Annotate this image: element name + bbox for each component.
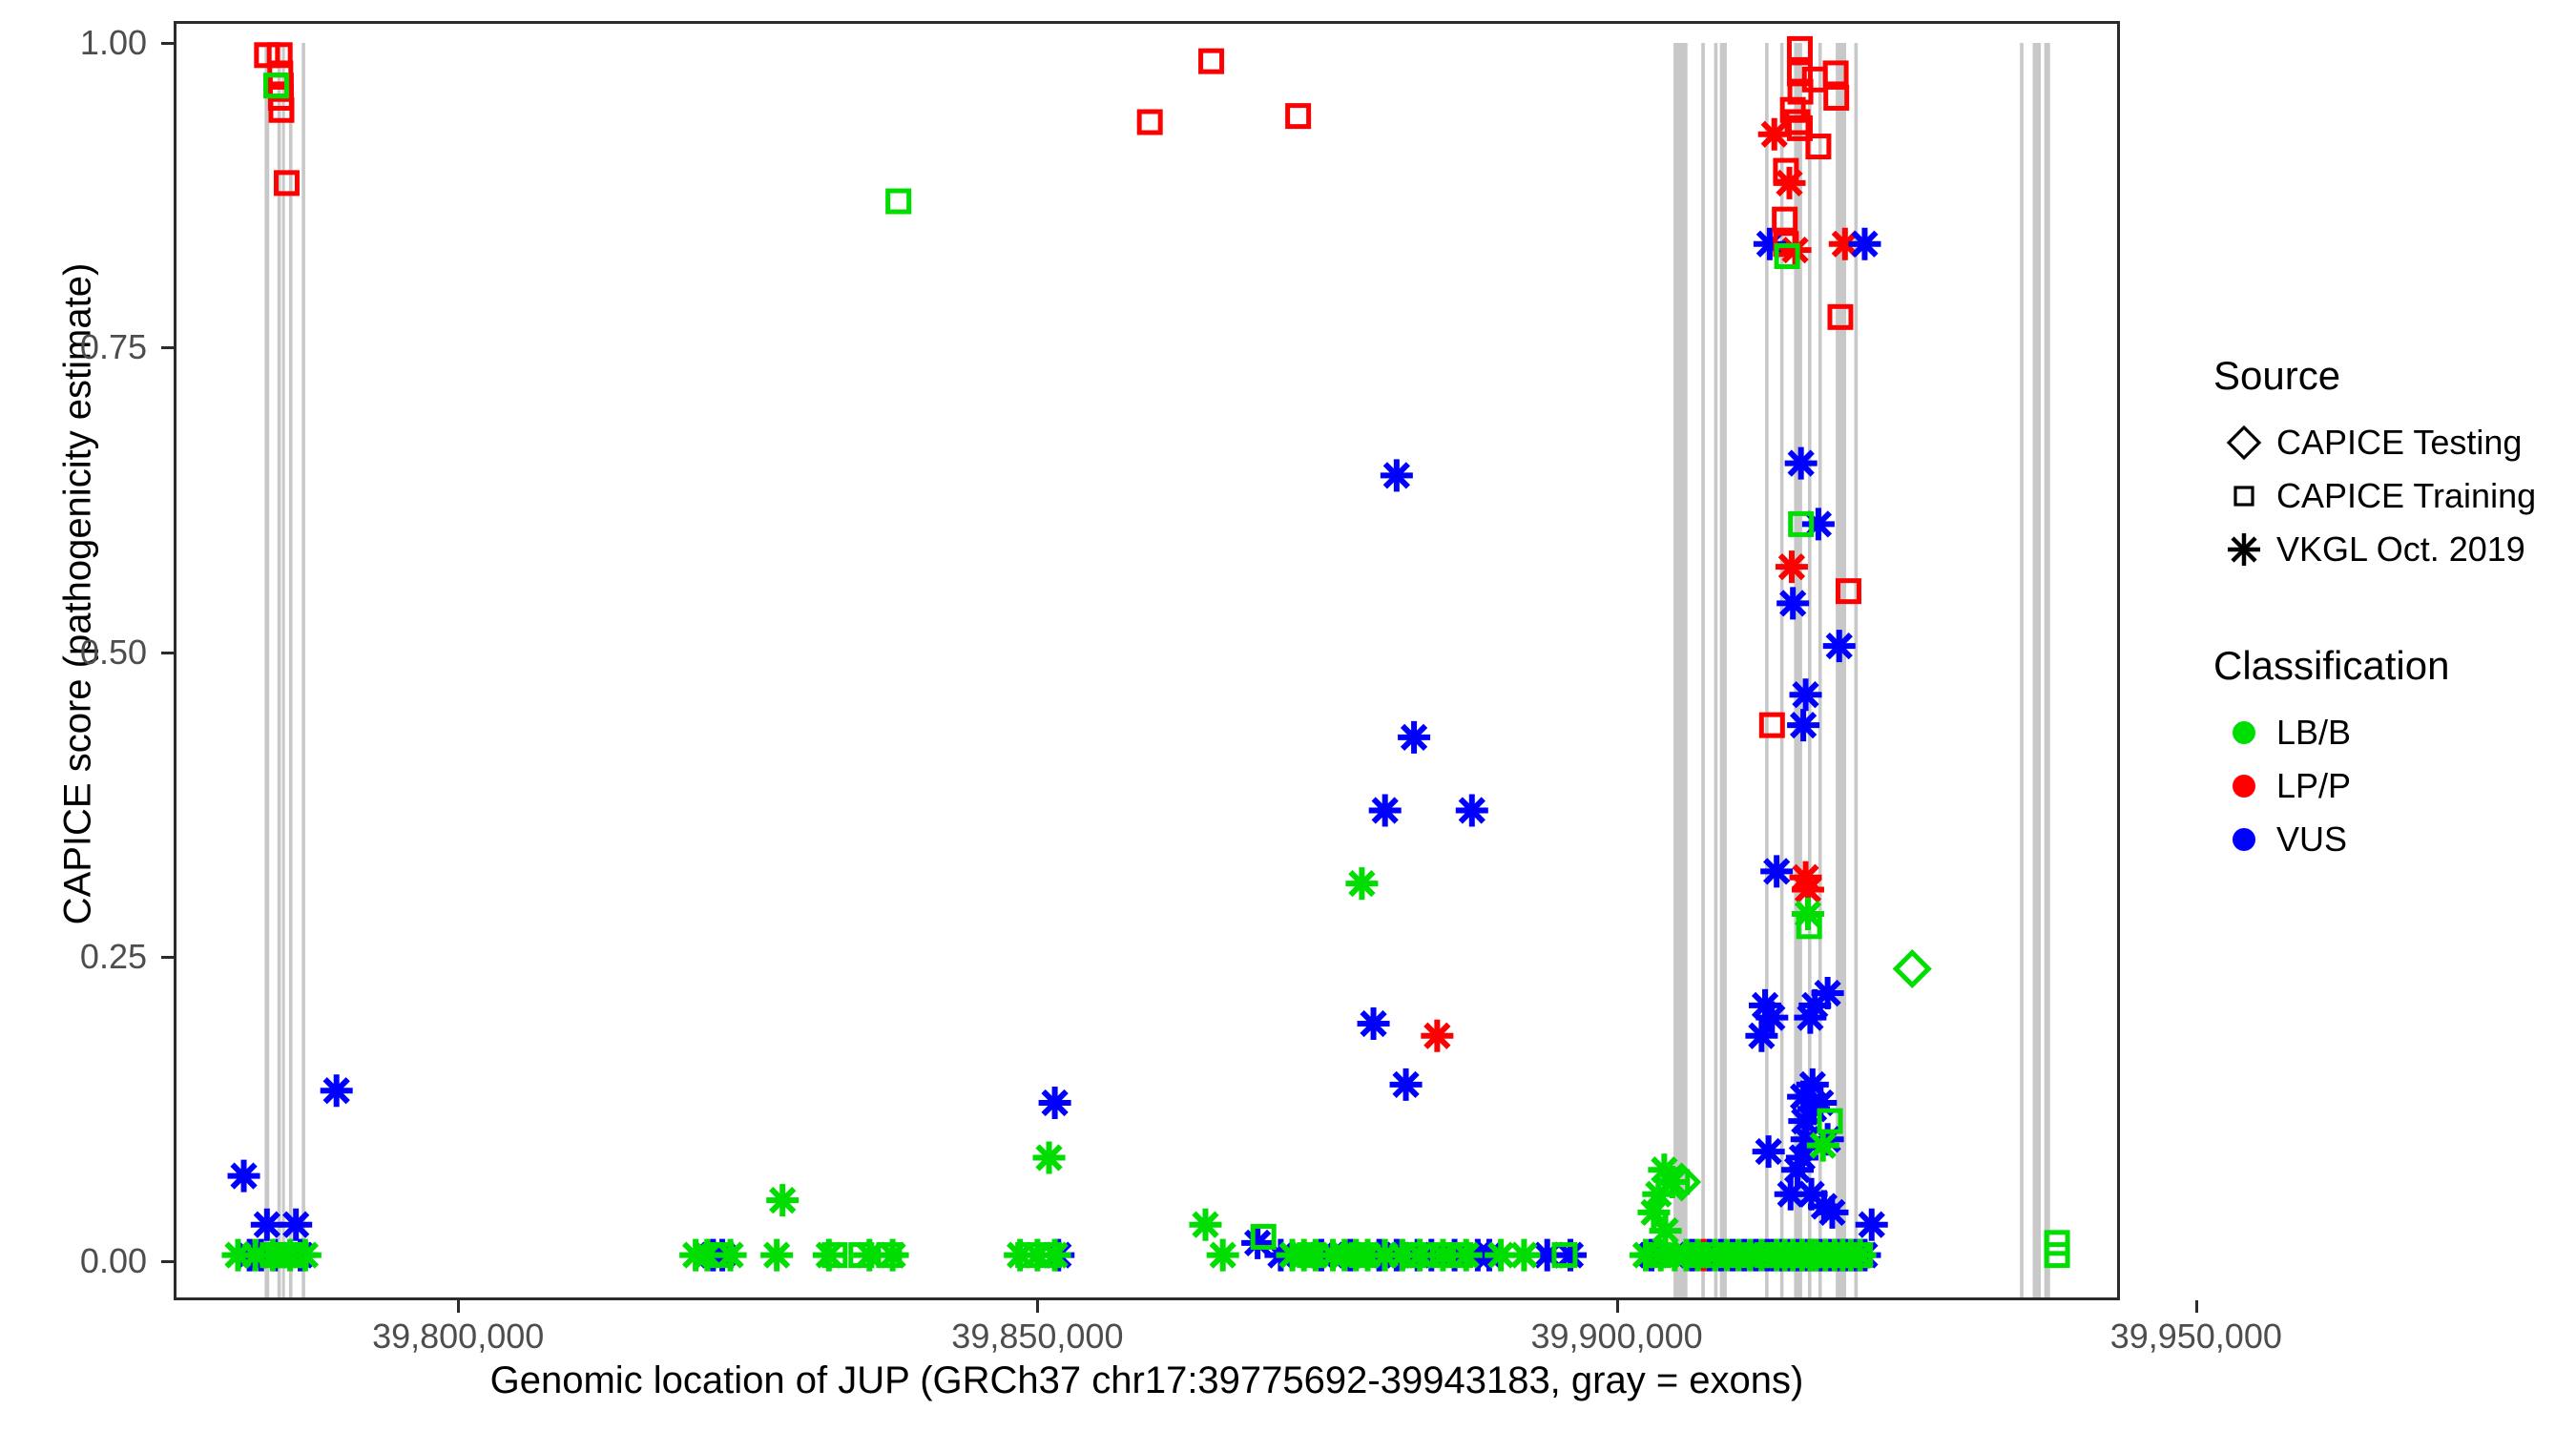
- y-tick-label: 0.75: [80, 327, 147, 367]
- legend-item-label: VKGL Oct. 2019: [2276, 529, 2525, 570]
- exon-band: [289, 43, 293, 1297]
- legend-group-classification: LB/BLP/PVUS: [2212, 706, 2574, 866]
- x-tick-label: 39,800,000: [372, 1317, 544, 1357]
- legend-item-label: VUS: [2276, 819, 2347, 860]
- series-vkgl-vus: [228, 228, 1888, 1272]
- legend-item-label: LP/P: [2276, 766, 2351, 806]
- circle-icon: [2220, 816, 2268, 863]
- legend-title-classification: Classification: [2213, 643, 2574, 689]
- legend-key: [2212, 813, 2276, 866]
- y-tick-mark: [161, 42, 174, 45]
- chart-root: CAPICE score (pathogenicity estimate) 0.…: [0, 0, 2576, 1431]
- marker-square: [1288, 106, 1309, 127]
- legend-item-vkgl-oct-2019[interactable]: VKGL Oct. 2019: [2212, 523, 2574, 576]
- exon-band: [2045, 43, 2050, 1297]
- y-tick-label: 0.25: [80, 937, 147, 977]
- marker-diamond: [1896, 953, 1928, 985]
- x-tick-label: 39,850,000: [951, 1317, 1123, 1357]
- square-icon: [2220, 472, 2268, 520]
- x-tick-mark: [457, 1300, 460, 1313]
- plot-canvas: [177, 24, 2117, 1297]
- marker-square: [1139, 112, 1160, 133]
- x-tick-mark: [1036, 1300, 1039, 1313]
- y-tick-label: 0.50: [80, 633, 147, 673]
- asterisk-icon: [2220, 526, 2268, 573]
- exon-band: [301, 43, 305, 1297]
- diamond-icon: [2220, 419, 2268, 467]
- y-tick-mark: [161, 1260, 174, 1263]
- legend-item-label: CAPICE Testing: [2276, 423, 2522, 463]
- exon-band: [264, 43, 269, 1297]
- y-axis-title: CAPICE score (pathogenicity estimate): [57, 117, 100, 1071]
- exon-band: [2033, 43, 2042, 1297]
- x-tick-mark: [2195, 1300, 2198, 1313]
- circle-icon: [2220, 709, 2268, 757]
- exon-band: [282, 43, 285, 1297]
- exon-band: [1720, 43, 1727, 1297]
- legend-group-source: CAPICE TestingCAPICE TrainingVKGL Oct. 2…: [2212, 416, 2574, 576]
- legend-spacer: [2212, 576, 2574, 643]
- legend-key: [2212, 706, 2276, 759]
- legend-item-vus[interactable]: VUS: [2212, 813, 2574, 866]
- series-capice-training-lp-p: [257, 38, 1859, 736]
- x-tick-mark: [1616, 1300, 1619, 1313]
- exon-band: [2020, 43, 2024, 1297]
- plot-panel: [174, 21, 2120, 1300]
- y-tick-mark: [161, 652, 174, 654]
- x-tick-label: 39,950,000: [2110, 1317, 2282, 1357]
- legend-item-capice-training[interactable]: CAPICE Training: [2212, 469, 2574, 523]
- exon-band: [1714, 43, 1718, 1297]
- legend-item-capice-testing[interactable]: CAPICE Testing: [2212, 416, 2574, 469]
- exon-band: [1701, 43, 1705, 1297]
- legend-item-label: CAPICE Training: [2276, 476, 2536, 516]
- legend-key: [2212, 759, 2276, 813]
- marker-square: [888, 191, 909, 212]
- legend-key: [2212, 469, 2276, 523]
- y-tick-mark: [161, 956, 174, 959]
- exon-band: [1673, 43, 1688, 1297]
- series-vkgl-lb-b: [221, 867, 1876, 1271]
- marker-square: [1201, 51, 1222, 72]
- legend-title-source: Source: [2213, 353, 2574, 399]
- y-tick-label: 0.00: [80, 1241, 147, 1281]
- legend-key: [2212, 523, 2276, 576]
- exon-band: [278, 43, 281, 1297]
- legend-item-lp-p[interactable]: LP/P: [2212, 759, 2574, 813]
- legend: Source CAPICE TestingCAPICE TrainingVKGL…: [2212, 353, 2574, 866]
- y-tick-mark: [161, 346, 174, 349]
- legend-item-lb-b[interactable]: LB/B: [2212, 706, 2574, 759]
- legend-key: [2212, 416, 2276, 469]
- x-tick-label: 39,900,000: [1530, 1317, 1702, 1357]
- circle-icon: [2220, 762, 2268, 810]
- x-axis-title: Genomic location of JUP (GRCh37 chr17:39…: [174, 1359, 2120, 1402]
- marker-square: [1775, 209, 1796, 230]
- marker-square: [1761, 715, 1782, 736]
- legend-item-label: LB/B: [2276, 713, 2351, 753]
- y-tick-label: 1.00: [80, 23, 147, 63]
